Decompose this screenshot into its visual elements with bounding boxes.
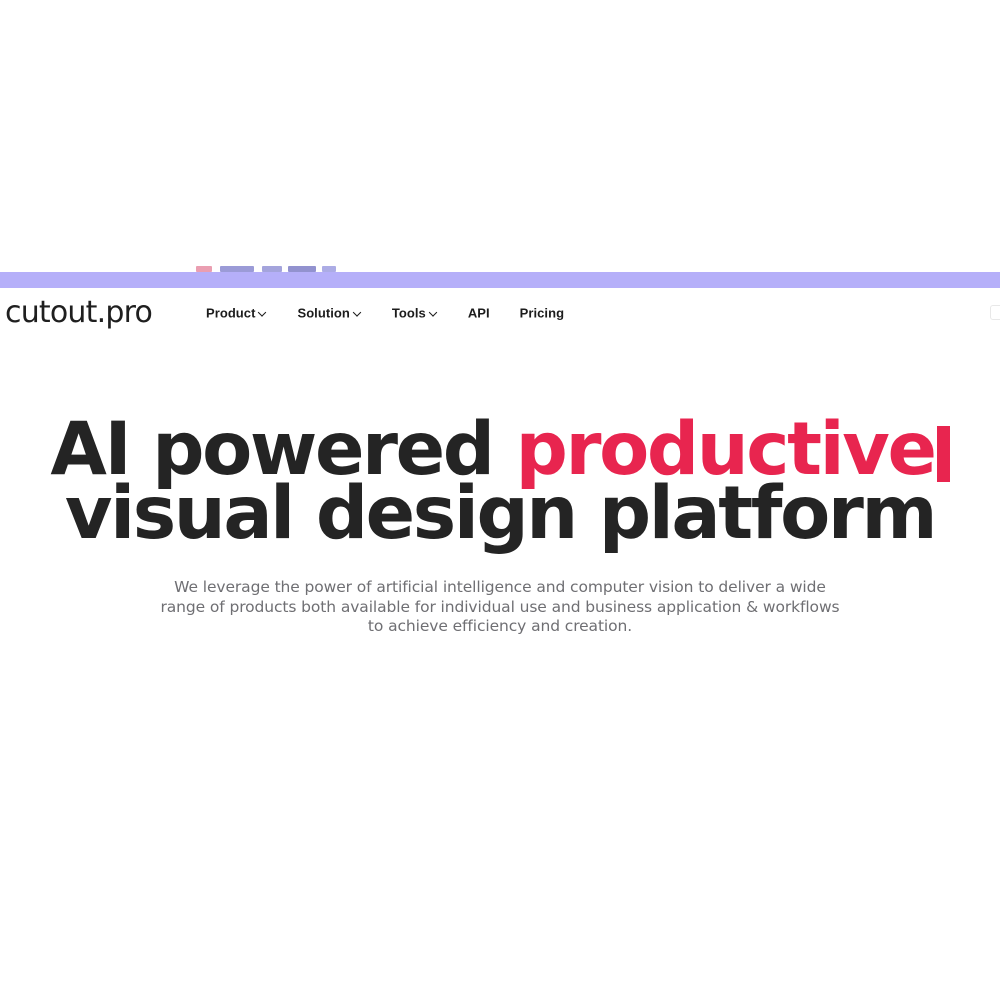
nav-item-label: Product [206, 306, 255, 321]
hero-subtitle: We leverage the power of artificial inte… [160, 578, 840, 637]
nav-item-api[interactable]: API [468, 306, 490, 321]
chevron-down-icon [354, 308, 362, 316]
hero-headline: AI powered productive visual design plat… [0, 418, 1000, 546]
below-hero-blank-region [0, 680, 1000, 1000]
nav-item-solution[interactable]: Solution [297, 306, 361, 321]
nav-item-label: Pricing [520, 306, 564, 321]
nav-item-pricing[interactable]: Pricing [520, 306, 564, 321]
purple-accent-band [0, 272, 1000, 288]
above-fold-blank-region [0, 0, 1000, 272]
nav-item-label: API [468, 306, 490, 321]
site-header: cutout.pro Product Solution Tools API Pr… [0, 288, 1000, 338]
hero-section: AI powered productive visual design plat… [0, 338, 1000, 637]
clipped-icon [990, 305, 1000, 320]
hero-headline-line-2: visual design platform [0, 482, 1000, 546]
header-right-clipped-control[interactable] [988, 304, 1000, 322]
nav-item-tools[interactable]: Tools [392, 306, 438, 321]
main-navigation: Product Solution Tools API Pricing [206, 306, 564, 321]
chevron-down-icon [259, 308, 267, 316]
nav-item-product[interactable]: Product [206, 306, 267, 321]
nav-item-label: Tools [392, 306, 426, 321]
chevron-down-icon [430, 308, 438, 316]
brand-logo[interactable]: cutout.pro [5, 298, 152, 328]
typing-caret [937, 426, 950, 482]
nav-item-label: Solution [297, 306, 349, 321]
page-root: cutout.pro Product Solution Tools API Pr… [0, 0, 1000, 1000]
clipped-text-row [196, 265, 336, 272]
